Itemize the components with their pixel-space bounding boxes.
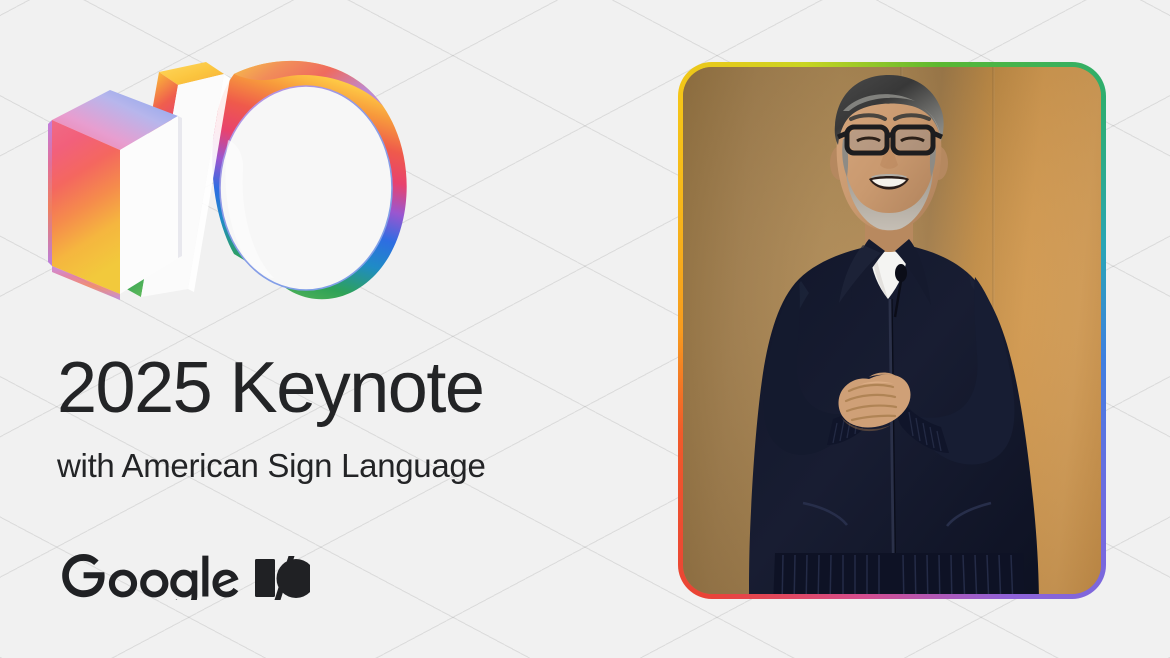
google-io-lockup	[57, 548, 310, 600]
page-title: 2025 Keynote	[57, 352, 483, 424]
left-content-column: 2025 Keynote with American Sign Language	[0, 0, 640, 658]
google-io-wordmark	[57, 548, 310, 600]
o-cylinder-3d	[212, 61, 406, 299]
io-glyph	[255, 556, 310, 600]
lapel-mic	[895, 264, 907, 282]
google-io-3d-logo	[38, 44, 428, 319]
speaker-photo-frame	[678, 62, 1106, 599]
slide-canvas: 2025 Keynote with American Sign Language	[0, 0, 1170, 658]
page-subtitle: with American Sign Language	[57, 447, 486, 485]
speaker-photo	[683, 67, 1101, 594]
speaker-figure	[683, 67, 1101, 594]
